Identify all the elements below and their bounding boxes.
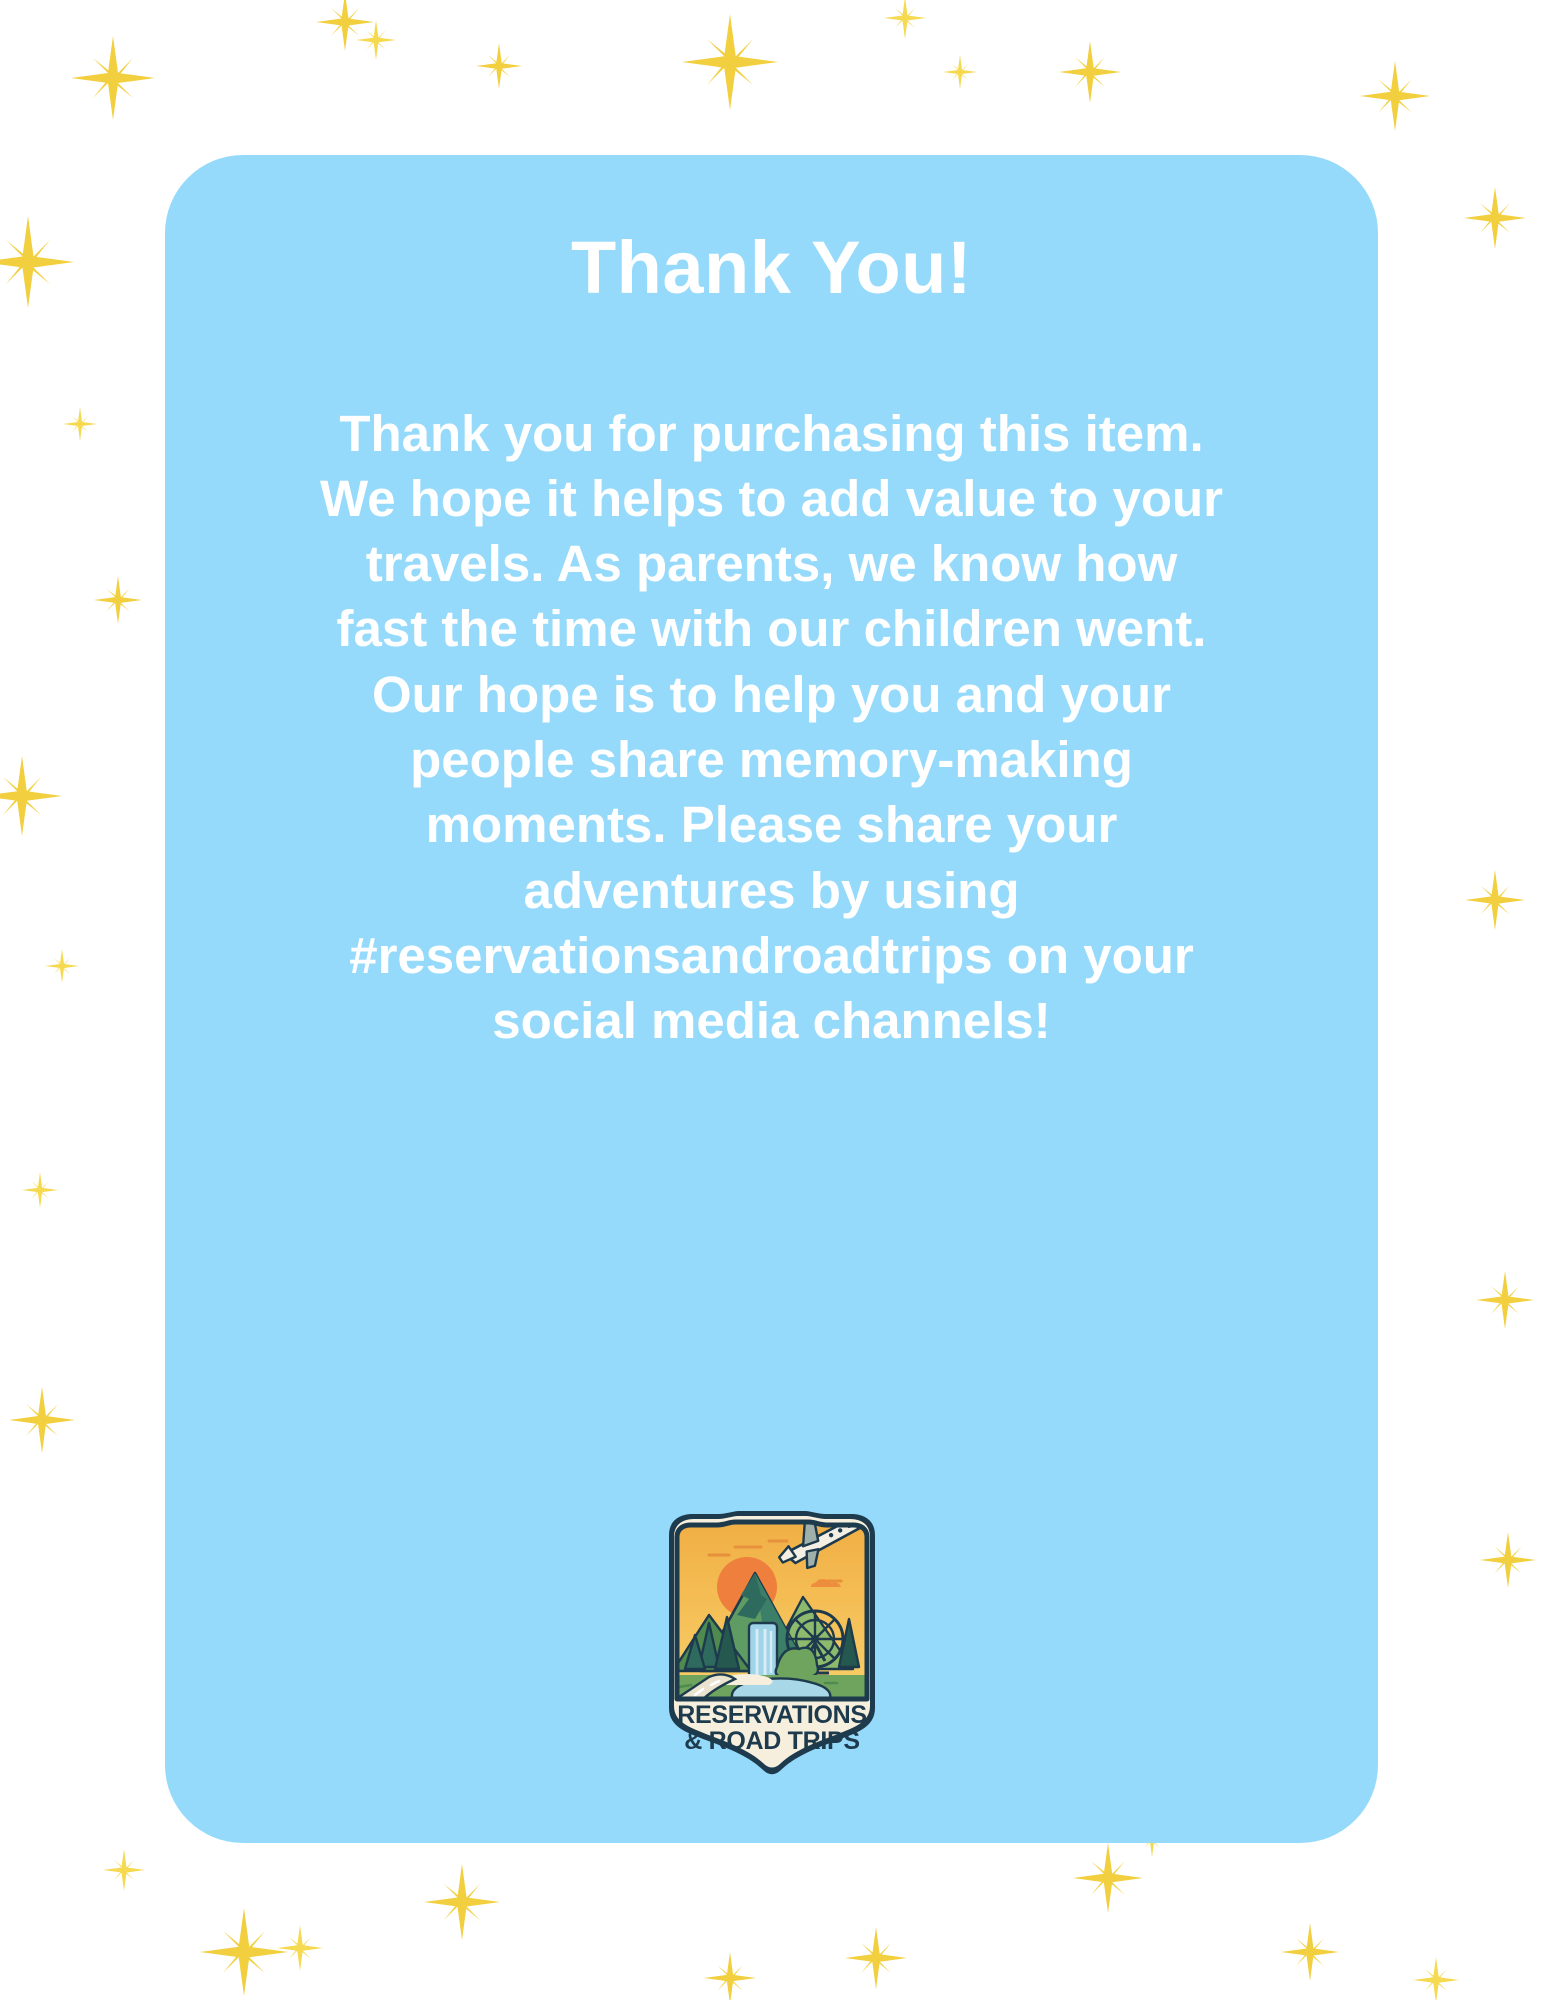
sparkle-star-icon bbox=[71, 36, 155, 120]
sparkle-star-icon bbox=[1059, 41, 1121, 103]
sparkle-star-icon bbox=[424, 1864, 500, 1940]
sparkle-star-icon bbox=[845, 1927, 907, 1989]
sparkle-star-icon bbox=[1073, 1843, 1143, 1913]
sparkle-star-icon bbox=[704, 1952, 756, 2000]
sparkle-star-icon bbox=[22, 1172, 58, 1208]
sparkle-star-icon bbox=[0, 216, 74, 308]
sparkle-star-icon bbox=[200, 1908, 288, 1996]
sparkle-star-icon bbox=[94, 576, 142, 624]
sparkle-star-icon bbox=[682, 14, 778, 110]
sparkle-star-icon bbox=[103, 1849, 145, 1891]
sparkle-star-icon bbox=[356, 20, 396, 60]
sparkle-star-icon bbox=[0, 756, 62, 836]
sparkle-star-icon bbox=[277, 1925, 323, 1971]
page-title: Thank You! bbox=[571, 229, 972, 307]
thank-you-card: Thank You! Thank you for purchasing this… bbox=[165, 155, 1378, 1843]
thank-you-flyer: Thank You! Thank you for purchasing this… bbox=[0, 0, 1545, 2000]
badge-scene bbox=[673, 1511, 876, 1701]
badge-line2: & ROAD TRIPS bbox=[684, 1727, 860, 1755]
waterfall-icon bbox=[749, 1623, 777, 1679]
sparkle-star-icon bbox=[1465, 870, 1525, 930]
sparkle-star-icon bbox=[1360, 61, 1430, 131]
reservations-and-road-trips-badge-icon: RESERVATIONS & ROAD TRIPS bbox=[657, 1511, 887, 1776]
thank-you-message: Thank you for purchasing this item. We h… bbox=[272, 401, 1272, 1054]
sparkle-star-icon bbox=[1464, 187, 1526, 249]
sparkle-star-icon bbox=[884, 0, 926, 39]
sparkle-star-icon bbox=[476, 43, 522, 89]
sparkle-star-icon bbox=[9, 1387, 75, 1453]
sparkle-star-icon bbox=[1480, 1532, 1536, 1588]
sparkle-star-icon bbox=[45, 949, 79, 983]
sparkle-star-icon bbox=[1281, 1923, 1339, 1981]
sparkle-star-icon bbox=[1413, 1957, 1459, 2000]
sparkle-star-icon bbox=[316, 0, 374, 51]
sparkle-star-icon bbox=[943, 55, 977, 89]
sparkle-star-icon bbox=[1476, 1271, 1534, 1329]
sparkle-star-icon bbox=[63, 407, 97, 441]
badge-line1: RESERVATIONS bbox=[677, 1701, 867, 1729]
